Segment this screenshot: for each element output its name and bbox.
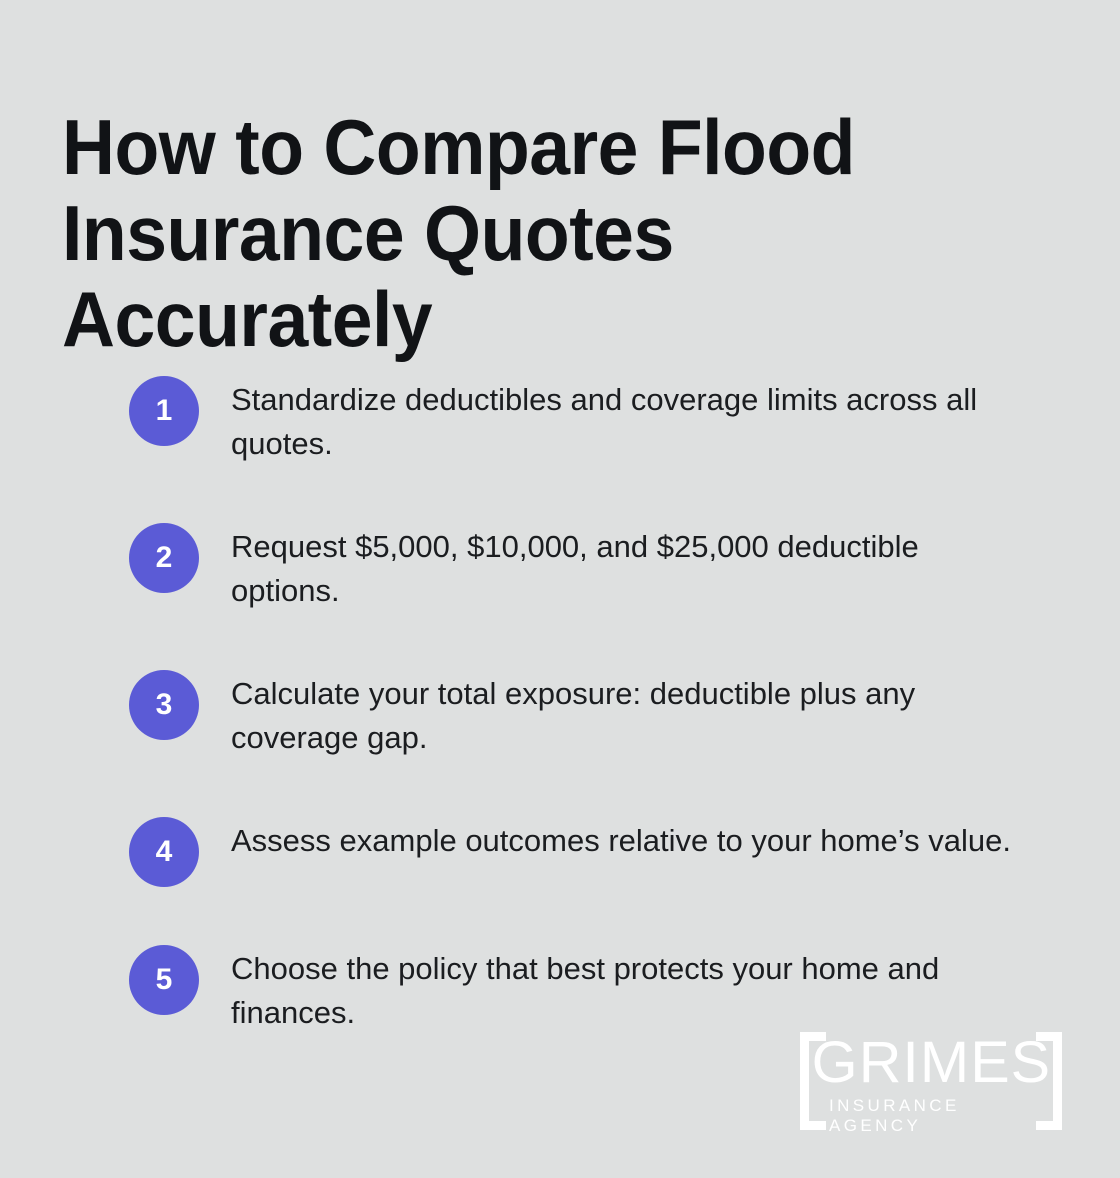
step-text: Calculate your total exposure: deductibl… (231, 670, 1033, 759)
logo-wordmark: GRIMES (811, 1033, 1051, 1093)
step-number-badge: 5 (129, 945, 199, 1015)
logo-text-group: GRIMES INSURANCE AGENCY (826, 1032, 1036, 1130)
step-number-badge: 1 (129, 376, 199, 446)
step-text: Request $5,000, $10,000, and $25,000 ded… (231, 523, 1033, 612)
list-item: 5 Choose the policy that best protects y… (129, 945, 1039, 1034)
brand-logo: GRIMES INSURANCE AGENCY (800, 1032, 1062, 1130)
list-item: 2 Request $5,000, $10,000, and $25,000 d… (129, 523, 1039, 612)
list-item: 4 Assess example outcomes relative to yo… (129, 817, 1039, 887)
right-bracket-icon (1036, 1032, 1062, 1130)
step-text: Choose the policy that best protects you… (231, 945, 1033, 1034)
list-item: 3 Calculate your total exposure: deducti… (129, 670, 1039, 759)
steps-list: 1 Standardize deductibles and coverage l… (129, 376, 1039, 1034)
logo-tagline: INSURANCE AGENCY (829, 1096, 1036, 1136)
page-title: How to Compare Flood Insurance Quotes Ac… (62, 104, 964, 362)
step-text: Assess example outcomes relative to your… (231, 817, 1011, 863)
step-number-badge: 4 (129, 817, 199, 887)
title-block: How to Compare Flood Insurance Quotes Ac… (62, 104, 1022, 362)
list-item: 1 Standardize deductibles and coverage l… (129, 376, 1039, 465)
step-number-badge: 3 (129, 670, 199, 740)
step-number-badge: 2 (129, 523, 199, 593)
step-text: Standardize deductibles and coverage lim… (231, 376, 1033, 465)
infographic-canvas: How to Compare Flood Insurance Quotes Ac… (0, 0, 1120, 1178)
